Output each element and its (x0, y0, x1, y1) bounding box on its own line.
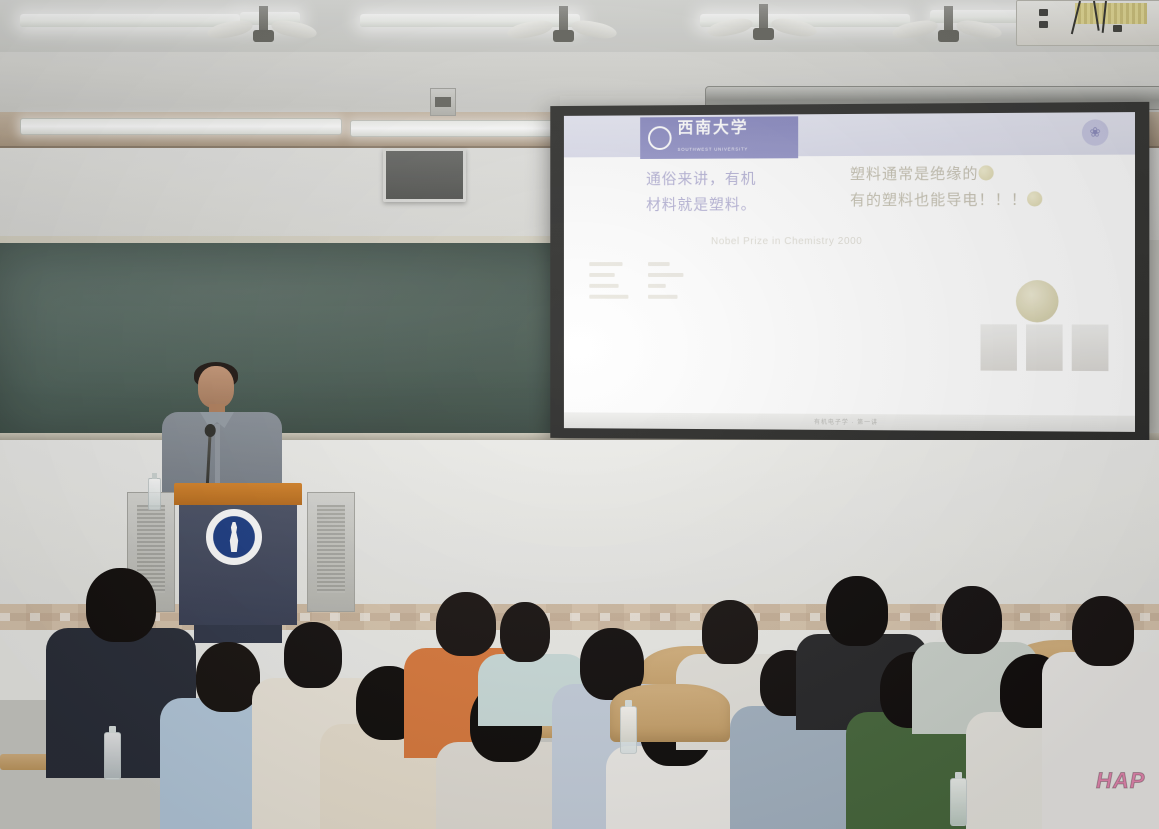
audience-person-head (500, 602, 550, 662)
wall-light-tube (20, 118, 342, 135)
audience-person-head (826, 576, 888, 646)
slide-body-text-lines (648, 262, 683, 306)
slide-text-left-line2: 材料就是塑料。 (646, 192, 756, 218)
slide-body-text-lines (589, 262, 628, 306)
university-seal-icon (648, 126, 672, 150)
presenter-shirt-placket (215, 424, 220, 492)
audience: HAP (0, 556, 1159, 829)
laureate-portrait (981, 324, 1017, 370)
wall-speaker (383, 148, 466, 202)
slide-text-right-line1: 塑料通常是绝缘的 (850, 165, 979, 183)
ceiling-light-tube (20, 14, 240, 27)
audience-person-head (86, 568, 156, 642)
water-bottle (104, 732, 121, 780)
slide-footer-bar: 有机电子学 · 第一讲 (564, 412, 1135, 432)
audience-person-head (436, 592, 496, 656)
laureate-portrait (1026, 324, 1063, 371)
slide-text-right: 塑料通常是绝缘的 有的塑料也能导电！！！ (850, 161, 1042, 214)
smiley-emoji-icon (979, 165, 994, 180)
wall-camera-icon (430, 88, 456, 116)
audience-person-head (196, 642, 260, 712)
lecture-hall-photo: 西南大学 SOUTHWEST UNIVERSITY ❀ 通俗来讲，有机 材料就是… (0, 0, 1159, 829)
laureate-portrait (1072, 324, 1109, 371)
ceiling-fan (900, 6, 996, 50)
presenter (160, 366, 284, 492)
audience-person-head (1072, 596, 1134, 666)
podium-water-bottle (148, 478, 161, 510)
ceiling-projector (1016, 0, 1159, 46)
podium-top (174, 483, 302, 505)
audience-person-head (284, 622, 342, 688)
slide-text-left: 通俗来讲，有机 材料就是塑料。 (646, 166, 756, 218)
slide-text-right-line2: 有的塑料也能导电！！！ (850, 191, 1027, 209)
shirt-graphic-text: HAP (1096, 768, 1145, 794)
ceiling-fan (215, 6, 311, 50)
university-name-en: SOUTHWEST UNIVERSITY (678, 147, 749, 152)
slide-surface: 西南大学 SOUTHWEST UNIVERSITY ❀ 通俗来讲，有机 材料就是… (564, 112, 1135, 432)
projection-screen: 西南大学 SOUTHWEST UNIVERSITY ❀ 通俗来讲，有机 材料就是… (550, 102, 1149, 442)
nobel-medal-icon (1016, 280, 1059, 322)
university-logo: 西南大学 SOUTHWEST UNIVERSITY (640, 116, 798, 159)
presenter-head (198, 366, 234, 408)
slide-footer-text: 有机电子学 · 第一讲 (814, 417, 878, 426)
water-bottle (620, 706, 637, 754)
water-bottle (950, 778, 967, 826)
university-name-cn: 西南大学 (678, 120, 749, 137)
ceiling-fan (715, 4, 811, 48)
audience-person-body (1042, 652, 1159, 829)
grin-emoji-icon (1027, 191, 1042, 206)
ceiling-fan (515, 6, 611, 50)
laureate-portraits (981, 324, 1109, 371)
audience-person-head (942, 586, 1002, 654)
slide-subtitle: Nobel Prize in Chemistry 2000 (711, 236, 862, 247)
audience-person-head (702, 600, 758, 664)
slide-text-left-line1: 通俗来讲，有机 (646, 166, 756, 192)
slide-badge-icon: ❀ (1082, 119, 1109, 145)
